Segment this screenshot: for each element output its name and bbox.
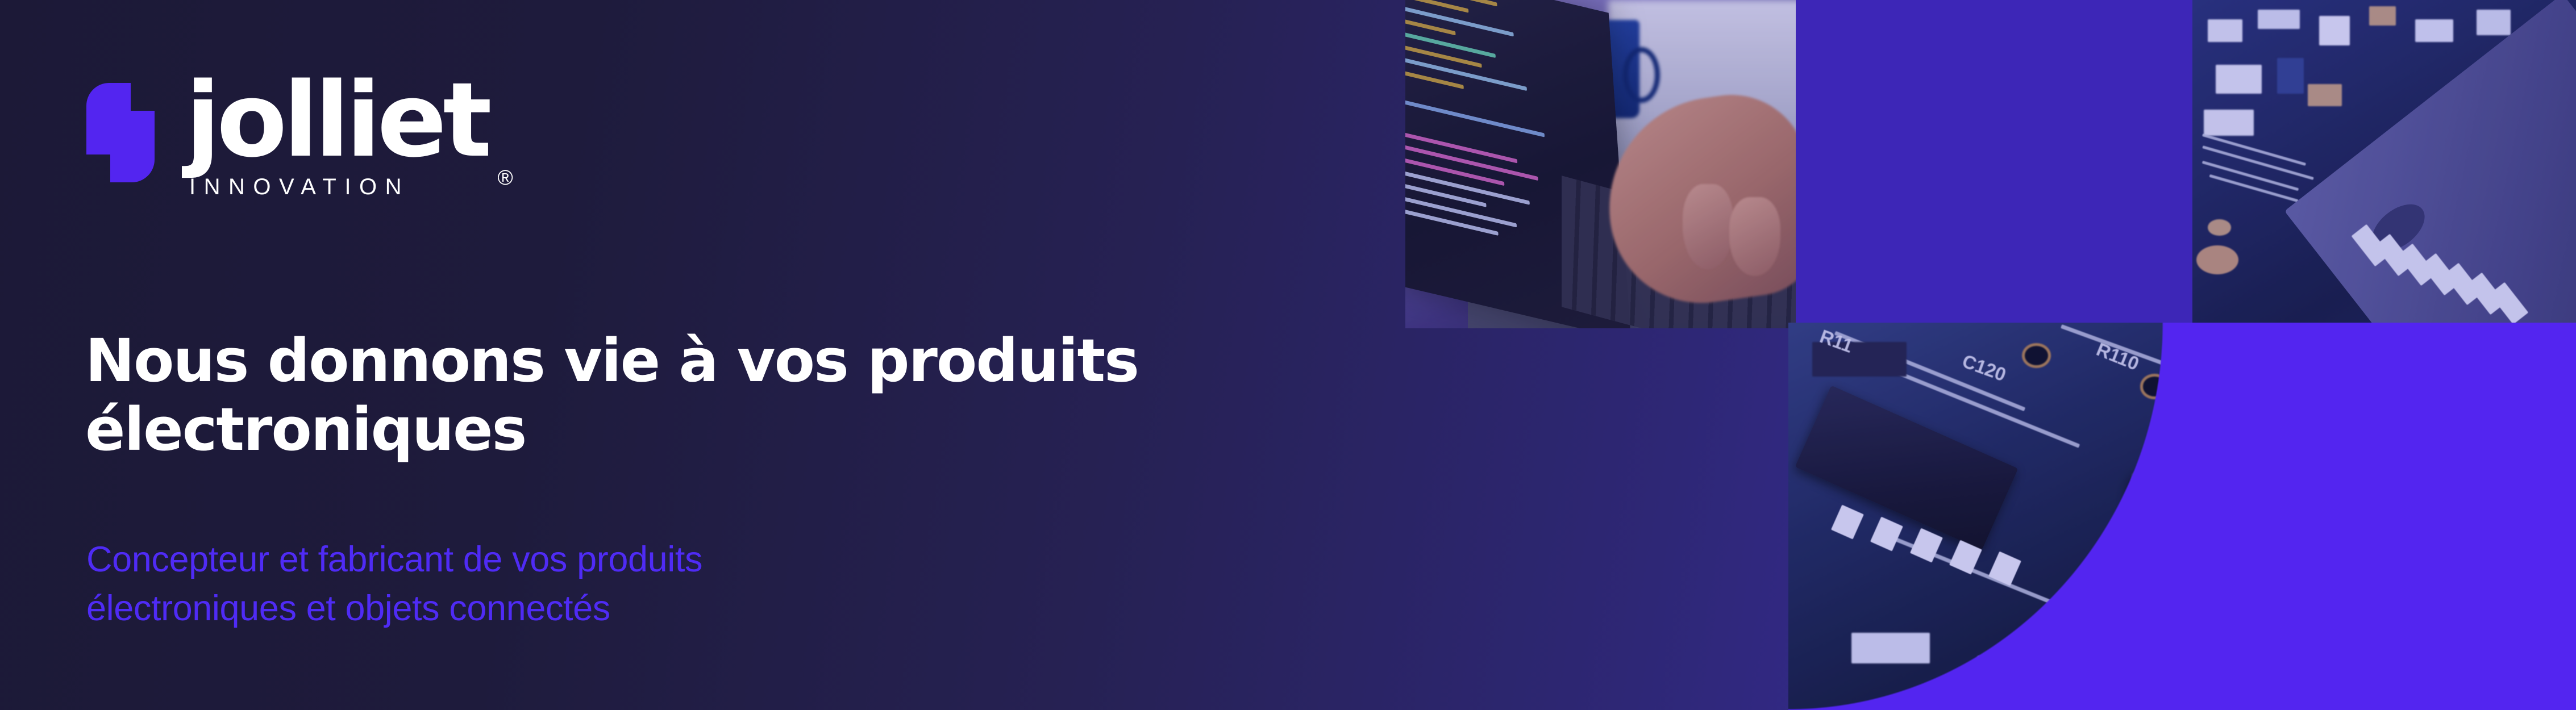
headline-line-2: électroniques <box>85 395 1352 465</box>
page-title: Nous donnons vie à vos produits électron… <box>85 327 1352 465</box>
hero-banner: R11 C120 R110 L34 <box>0 0 2576 710</box>
tile-violet-block <box>1796 0 2192 323</box>
subheadline-line-2: électroniques et objets connectés <box>86 584 1337 633</box>
laptop-photo-art <box>1405 0 1796 328</box>
pcb-photo-art: R11 C120 R110 L34 <box>1788 323 2576 710</box>
page-subtitle: Concepteur et fabricant de vos produits … <box>86 536 1337 633</box>
jolliet-logo-mark-icon <box>86 83 155 182</box>
tile-laptop-coding-photo <box>1405 0 1796 328</box>
brand-wordmark: jolliet <box>185 80 488 162</box>
brand-logo[interactable]: jolliet ® INNOVATION <box>86 80 488 200</box>
brand-logo-text: jolliet ® INNOVATION <box>185 80 488 200</box>
chip-photo-art <box>2192 0 2576 323</box>
tile-chip-macro-photo <box>2192 0 2576 323</box>
headline-line-1: Nous donnons vie à vos produits <box>85 327 1352 396</box>
hero-content: jolliet ® INNOVATION Nous donnons vie à … <box>0 0 1404 710</box>
subheadline-line-1: Concepteur et fabricant de vos produits <box>86 536 1337 584</box>
registered-trademark-icon: ® <box>498 166 513 190</box>
tile-pcb-macro-photo: R11 C120 R110 L34 <box>1788 323 2576 710</box>
